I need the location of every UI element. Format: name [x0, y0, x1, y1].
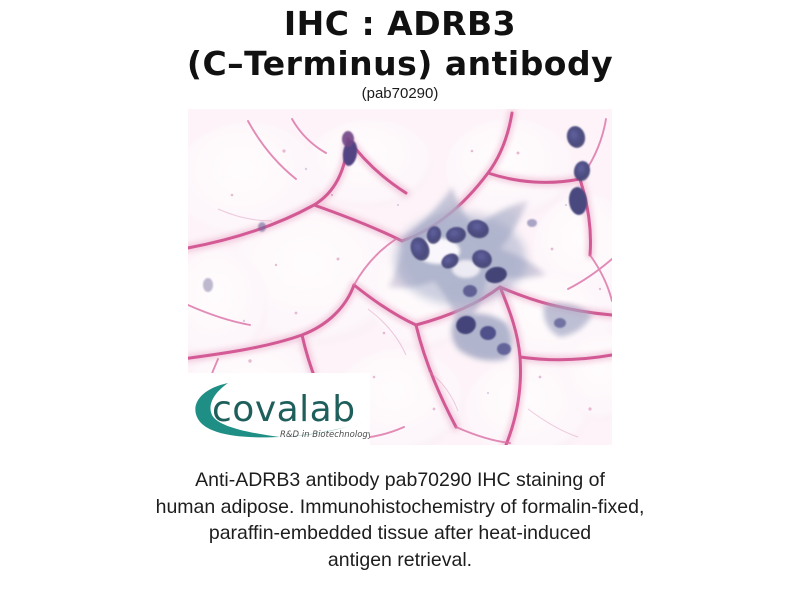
caption-line-4: antigen retrieval.: [120, 547, 680, 574]
catalog-number: (pab70290): [0, 85, 800, 103]
caption-line-2: human adipose. Immunohistochemistry of f…: [120, 494, 680, 521]
page-title-line-2: (C–Terminus) antibody: [0, 44, 800, 83]
product-figure-page: IHC : ADRB3 (C–Terminus) antibody (pab70…: [0, 0, 800, 600]
covalab-logo: covalab R&D in Biotechnology: [188, 373, 370, 445]
micrograph-figure: covalab R&D in Biotechnology: [188, 109, 612, 445]
figure-caption: Anti-ADRB3 antibody pab70290 IHC stainin…: [120, 467, 680, 573]
caption-line-3: paraffin-embedded tissue after heat-indu…: [120, 520, 680, 547]
page-title-line-1: IHC : ADRB3: [0, 4, 800, 43]
title-block: IHC : ADRB3 (C–Terminus) antibody (pab70…: [0, 0, 800, 103]
covalab-wordmark: covalab: [212, 389, 356, 430]
covalab-logo-graphic: covalab R&D in Biotechnology: [188, 373, 370, 445]
caption-line-1: Anti-ADRB3 antibody pab70290 IHC stainin…: [120, 467, 680, 494]
covalab-tagline: R&D in Biotechnology: [280, 430, 370, 440]
